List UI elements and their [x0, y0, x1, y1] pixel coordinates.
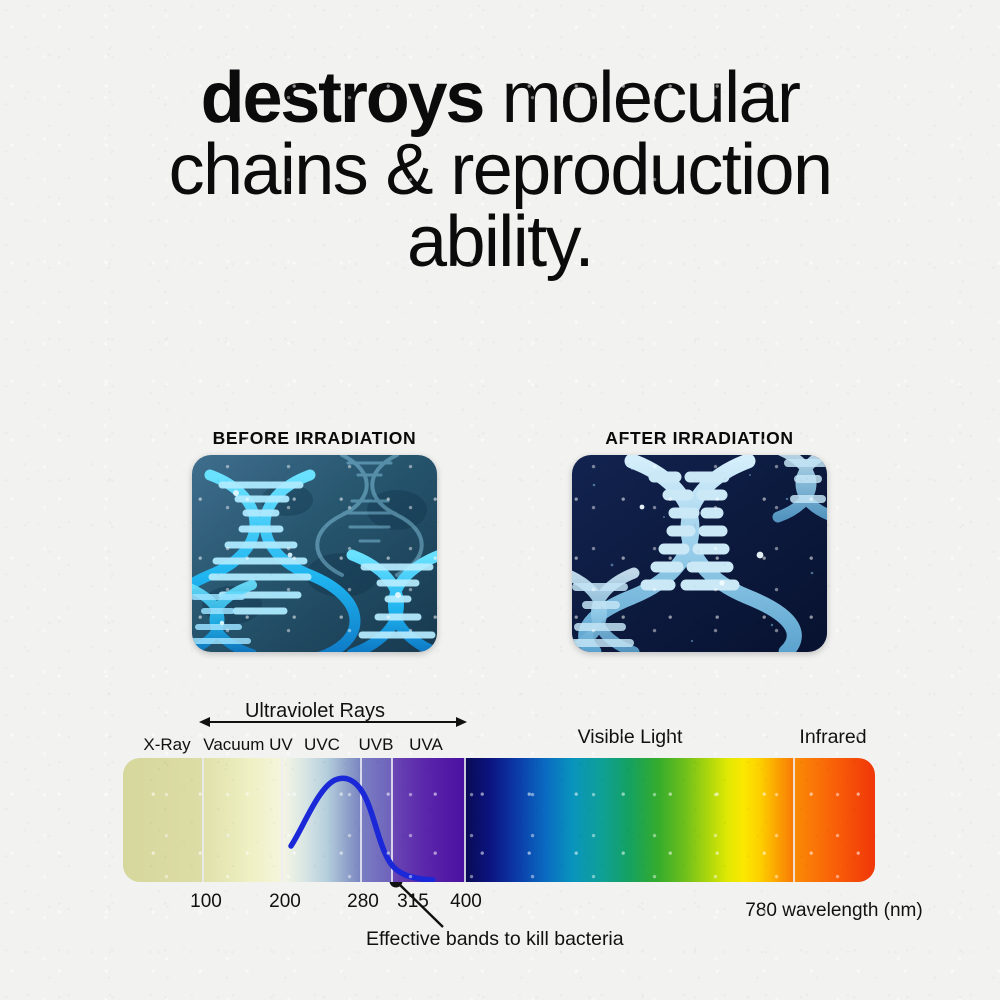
spectrum-bar	[123, 758, 875, 882]
band-label-x-ray: X-Ray	[143, 735, 190, 755]
before-irradiation-caption: BEFORE IRRADIATION	[192, 428, 437, 449]
annotation-effective-bands: Effective bands to kill bacteria	[366, 928, 624, 951]
dna-after-image	[572, 455, 827, 652]
page-title: destroys molecular chains & reproduction…	[0, 62, 1000, 278]
headline-line-1-rest: molecular	[483, 58, 799, 138]
headline-line-3: ability.	[0, 206, 1000, 278]
arrow-head-right	[456, 717, 467, 727]
tick-label-200: 200	[269, 891, 301, 913]
dna-helix-damaged-icon	[572, 455, 827, 652]
after-irradiation-caption: AFTER IRRADIATION	[572, 428, 827, 449]
tick-label-315: 315	[397, 891, 429, 913]
region-label-infrared: Infrared	[799, 726, 866, 749]
arrow-head-left	[199, 717, 210, 727]
dna-before-image	[192, 455, 437, 652]
tick-label-280: 280	[347, 891, 379, 913]
band-label-uva: UVA	[409, 735, 443, 755]
headline-line-2: chains & reproduction	[0, 134, 1000, 206]
tick-label-400: 400	[450, 891, 482, 913]
dna-helix-intact-icon	[192, 455, 437, 652]
band-label-uvb: UVB	[359, 735, 394, 755]
region-label-visible-light: Visible Light	[578, 726, 683, 749]
headline-line-1: destroys molecular	[0, 62, 1000, 134]
region-label-ultraviolet: Ultraviolet Rays	[245, 700, 385, 723]
band-label-uvc: UVC	[304, 735, 340, 755]
headline-bold-word: destroys	[201, 58, 484, 138]
band-label-vacuum-uv: Vacuum UV	[203, 735, 292, 755]
axis-label-wavelength: 780 wavelength (nm)	[745, 900, 922, 922]
tick-label-100: 100	[190, 891, 222, 913]
germicidal-effectiveness-curve	[123, 758, 875, 882]
